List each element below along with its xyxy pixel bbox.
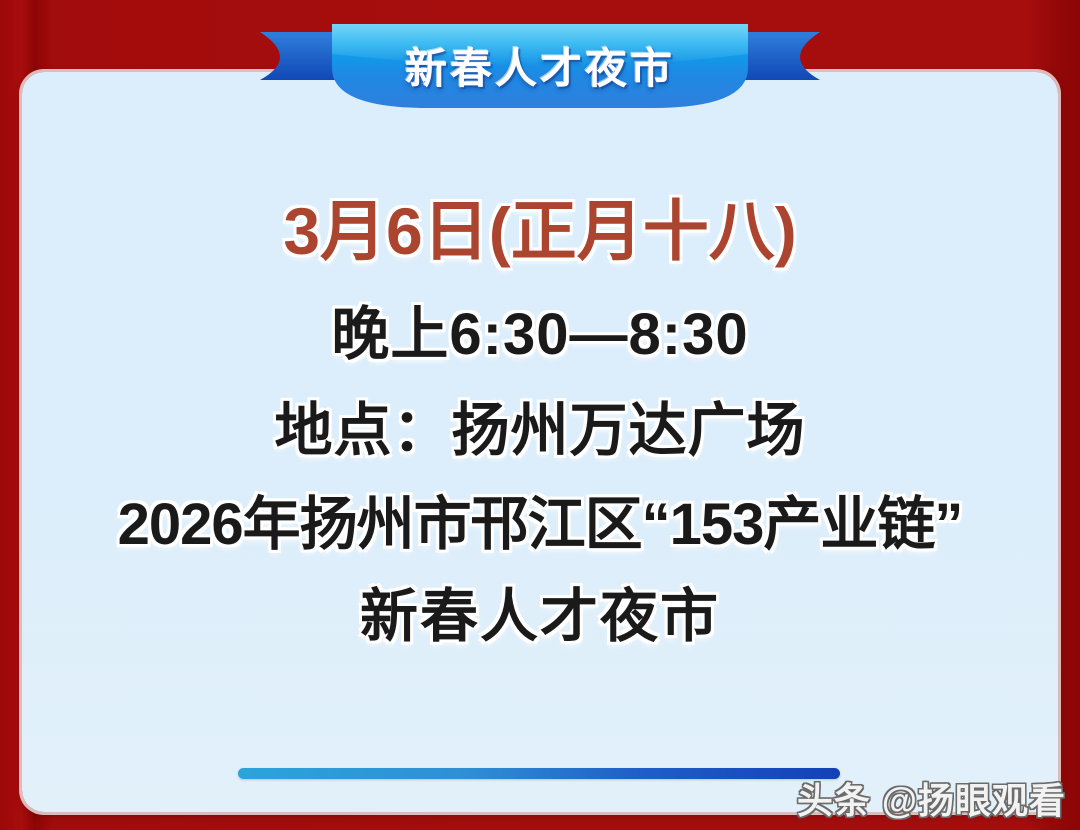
bottom-divider-rule bbox=[238, 768, 840, 779]
watermark-label: 头条 @扬眼观看 bbox=[797, 772, 1066, 824]
date-line: 3月6日(正月十八) bbox=[283, 198, 796, 264]
poster-content: 3月6日(正月十八) 晚上6:30—8:30 地点：扬州万达广场 2026年扬州… bbox=[22, 72, 1058, 812]
organizer-line: 2026年扬州市邗江区“153产业链” bbox=[118, 496, 963, 554]
poster-root: 新春人才夜市 3月6日(正月十八) 晚上6:30—8:30 地点：扬州万达广场 … bbox=[0, 0, 1080, 830]
banner-ribbon: 新春人才夜市 bbox=[260, 24, 820, 112]
banner-title: 新春人才夜市 bbox=[260, 24, 820, 106]
time-line: 晚上6:30—8:30 bbox=[331, 306, 748, 364]
location-line: 地点：扬州万达广场 bbox=[274, 402, 805, 460]
event-name-line: 新春人才夜市 bbox=[360, 588, 720, 646]
